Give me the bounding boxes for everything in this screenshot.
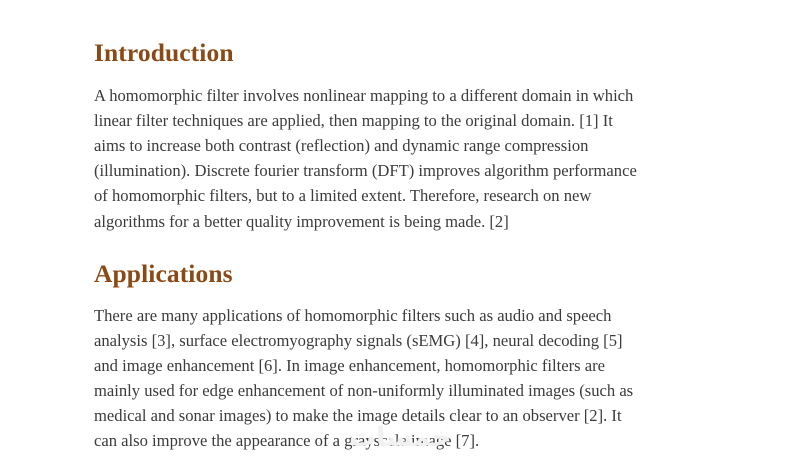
- article-content: Introduction A homomorphic filter involv…: [94, 28, 710, 453]
- document-page: Introduction A homomorphic filter involv…: [0, 0, 800, 460]
- heading-introduction: Introduction: [94, 38, 710, 68]
- heading-applications: Applications: [94, 259, 710, 289]
- paragraph-introduction: A homomorphic filter involves nonlinear …: [94, 83, 710, 234]
- watermark-text: خمسات: [0, 424, 800, 451]
